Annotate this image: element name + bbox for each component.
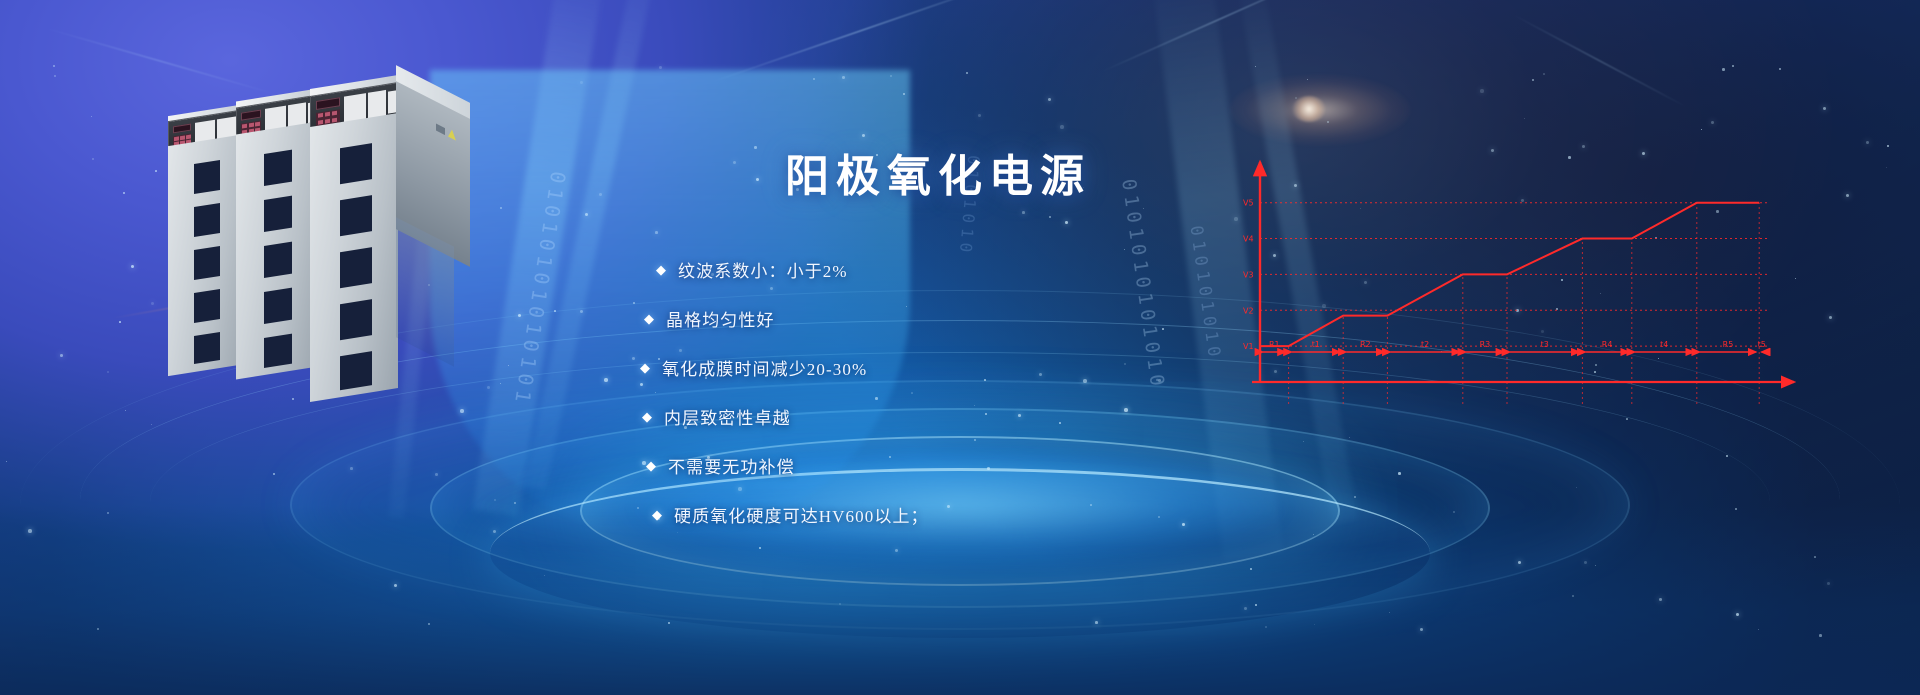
chart-stage-label: t3 <box>1541 340 1549 349</box>
particle-dot <box>125 410 126 411</box>
particle-dot <box>350 467 353 470</box>
lens-flare-core-icon <box>1292 96 1326 122</box>
cabinet-vent <box>340 247 372 288</box>
voltage-ramp-svg: V1V2V3V4V5R1t1R2t2R3t3R4t4R5t5 <box>1240 150 1800 410</box>
particle-dot <box>862 134 865 137</box>
particle-dot <box>903 93 905 95</box>
cabinet-vent <box>340 351 372 390</box>
particle-dot <box>1354 496 1356 498</box>
list-item-label: 不需要无功补偿 <box>668 453 795 478</box>
list-item: ◆ 内层致密性卓越 <box>642 404 1280 429</box>
chart-stage-label: t5 <box>1758 340 1766 349</box>
particle-dot <box>1887 145 1889 147</box>
particle-dot <box>1626 418 1628 420</box>
particle-dot <box>151 424 152 425</box>
particle-dot <box>514 502 516 504</box>
particle-dot <box>131 265 134 268</box>
diamond-bullet-icon: ◆ <box>652 508 662 521</box>
cabinet-vent <box>194 246 220 280</box>
particle-dot <box>1543 73 1545 75</box>
particle-dot <box>1303 441 1304 442</box>
feature-bullet-list: ◆ 纹波系数小：小于2% ◆ 晶格均匀性好 ◆ 氧化成膜时间减少20-30% ◆… <box>640 257 1280 527</box>
chart-y-tick-label: V5 <box>1243 199 1254 208</box>
particle-dot <box>1048 98 1051 101</box>
particle-dot <box>500 383 501 384</box>
particle-dot <box>1823 107 1826 110</box>
particle-dot <box>435 473 438 476</box>
particle-dot <box>151 302 154 305</box>
particle-dot <box>6 461 7 462</box>
particle-dot <box>1779 68 1781 70</box>
chart-stage-label: R3 <box>1480 340 1491 349</box>
text-content-block: 阳极氧化电源 ◆ 纹波系数小：小于2% ◆ 晶格均匀性好 ◆ 氧化成膜时间减少2… <box>640 140 1280 551</box>
particle-dot <box>1886 167 1887 168</box>
cabinet-vent <box>340 195 372 236</box>
diamond-bullet-icon: ◆ <box>640 361 650 374</box>
particle-dot <box>1846 194 1849 197</box>
voltage-ramp-chart: V1V2V3V4V5R1t1R2t2R3t3R4t4R5t5 <box>1240 150 1800 410</box>
particle-dot <box>1307 79 1308 80</box>
particle-dot <box>273 473 275 475</box>
chart-stage-label: R5 <box>1723 340 1734 349</box>
particle-dot <box>599 193 602 196</box>
particle-dot <box>1255 66 1256 67</box>
cabinet-vent <box>264 196 292 232</box>
particle-dot <box>119 321 121 323</box>
cabinet-vent <box>194 289 220 323</box>
list-item-label: 硬质氧化硬度可达HV600以上； <box>674 502 929 527</box>
cabinet-vent <box>264 150 292 186</box>
chart-waveform-line <box>1260 203 1759 346</box>
chart-stage-label: t4 <box>1660 340 1668 349</box>
particle-dot <box>1722 68 1725 71</box>
particle-dot <box>1829 316 1832 319</box>
lens-flare-glow <box>1230 75 1410 145</box>
list-item-label: 晶格均匀性好 <box>666 306 775 331</box>
chart-y-tick-label: V1 <box>1243 342 1254 351</box>
particle-dot <box>107 371 109 373</box>
chart-stage-label: R2 <box>1360 340 1371 349</box>
product-banner: 01010101010101 0101010101010 010101010 0… <box>0 0 1920 695</box>
particle-dot <box>604 378 608 382</box>
particle-dot <box>1524 118 1525 119</box>
chart-stage-label: t2 <box>1421 340 1429 349</box>
list-item: ◆ 晶格均匀性好 <box>644 306 1280 331</box>
chart-stage-label: R1 <box>1269 340 1280 349</box>
particle-dot <box>494 499 496 501</box>
light-streak <box>1101 0 1339 73</box>
particle-dot <box>1732 65 1734 67</box>
light-streak <box>1511 13 1689 109</box>
particle-dot <box>585 213 588 216</box>
particle-dot <box>554 310 556 312</box>
diamond-bullet-icon: ◆ <box>642 410 652 423</box>
particle-dot <box>966 72 968 74</box>
cabinet-vent <box>264 334 292 368</box>
diamond-bullet-icon: ◆ <box>646 459 656 472</box>
list-item-label: 纹波系数小：小于2% <box>678 257 848 282</box>
cabinet-vent <box>340 143 372 184</box>
cabinet-vent <box>264 288 292 324</box>
chart-stage-label: R4 <box>1602 340 1613 349</box>
particle-dot <box>508 365 509 366</box>
particle-dot <box>632 357 635 360</box>
particle-dot <box>92 158 94 160</box>
power-supply-cabinets-image <box>168 82 498 412</box>
particle-dot <box>1480 89 1484 93</box>
particle-dot <box>1349 437 1350 438</box>
particle-dot <box>580 310 583 313</box>
chart-y-tick-label: V2 <box>1243 306 1254 315</box>
cabinet-vent <box>194 332 220 364</box>
particle-dot <box>155 170 157 172</box>
particle-dot <box>1866 141 1869 144</box>
particle-dot <box>1327 121 1329 123</box>
cabinet-body <box>310 113 398 402</box>
list-item: ◆ 纹波系数小：小于2% <box>656 257 1280 282</box>
particle-dot <box>1532 79 1534 81</box>
list-item-label: 氧化成膜时间减少20-30% <box>662 355 867 380</box>
particle-dot <box>1711 121 1714 124</box>
cabinet-vent <box>340 299 372 340</box>
particle-dot <box>1398 472 1401 475</box>
list-item-label: 内层致密性卓越 <box>664 404 791 429</box>
cabinet-body <box>236 122 318 380</box>
binary-stream: 01010101010101 <box>509 170 570 409</box>
particle-dot <box>890 75 892 77</box>
panel-meter-display <box>241 110 261 121</box>
list-item: ◆ 不需要无功补偿 <box>646 453 1280 478</box>
particle-dot <box>91 116 92 117</box>
particle-dot <box>842 76 845 79</box>
list-item: ◆ 硬质氧化硬度可达HV600以上； <box>652 502 1280 527</box>
panel-meter-display <box>316 97 340 110</box>
list-item: ◆ 氧化成膜时间减少20-30% <box>640 355 1280 380</box>
particle-dot <box>500 207 502 209</box>
particle-dot <box>978 114 981 117</box>
particle-dot <box>1726 455 1728 457</box>
particle-dot <box>1295 97 1297 99</box>
cabinet-body <box>168 134 246 376</box>
light-streak <box>708 0 1011 84</box>
particle-dot <box>1060 125 1064 129</box>
diamond-bullet-icon: ◆ <box>644 312 654 325</box>
cabinet-vent <box>194 203 220 237</box>
cabinet-vent <box>264 242 292 278</box>
particle-dot <box>1701 129 1702 130</box>
panel-meter-display <box>173 124 191 134</box>
particle-dot <box>1576 487 1577 488</box>
particle-dot <box>580 81 583 84</box>
particle-dot <box>813 78 815 80</box>
particle-dot <box>54 75 56 77</box>
cabinet-vent <box>194 160 220 194</box>
particle-dot <box>659 66 662 69</box>
particle-dot <box>60 354 63 357</box>
particle-dot <box>53 65 55 67</box>
particle-dot <box>1582 145 1585 148</box>
chart-y-tick-label: V3 <box>1243 270 1254 279</box>
particle-dot <box>518 314 521 317</box>
chart-stage-label: t1 <box>1312 340 1320 349</box>
particle-dot <box>123 192 125 194</box>
page-title: 阳极氧化电源 <box>785 140 1280 204</box>
diamond-bullet-icon: ◆ <box>656 263 666 276</box>
chart-y-tick-label: V4 <box>1243 235 1254 244</box>
particle-dot <box>633 302 635 304</box>
